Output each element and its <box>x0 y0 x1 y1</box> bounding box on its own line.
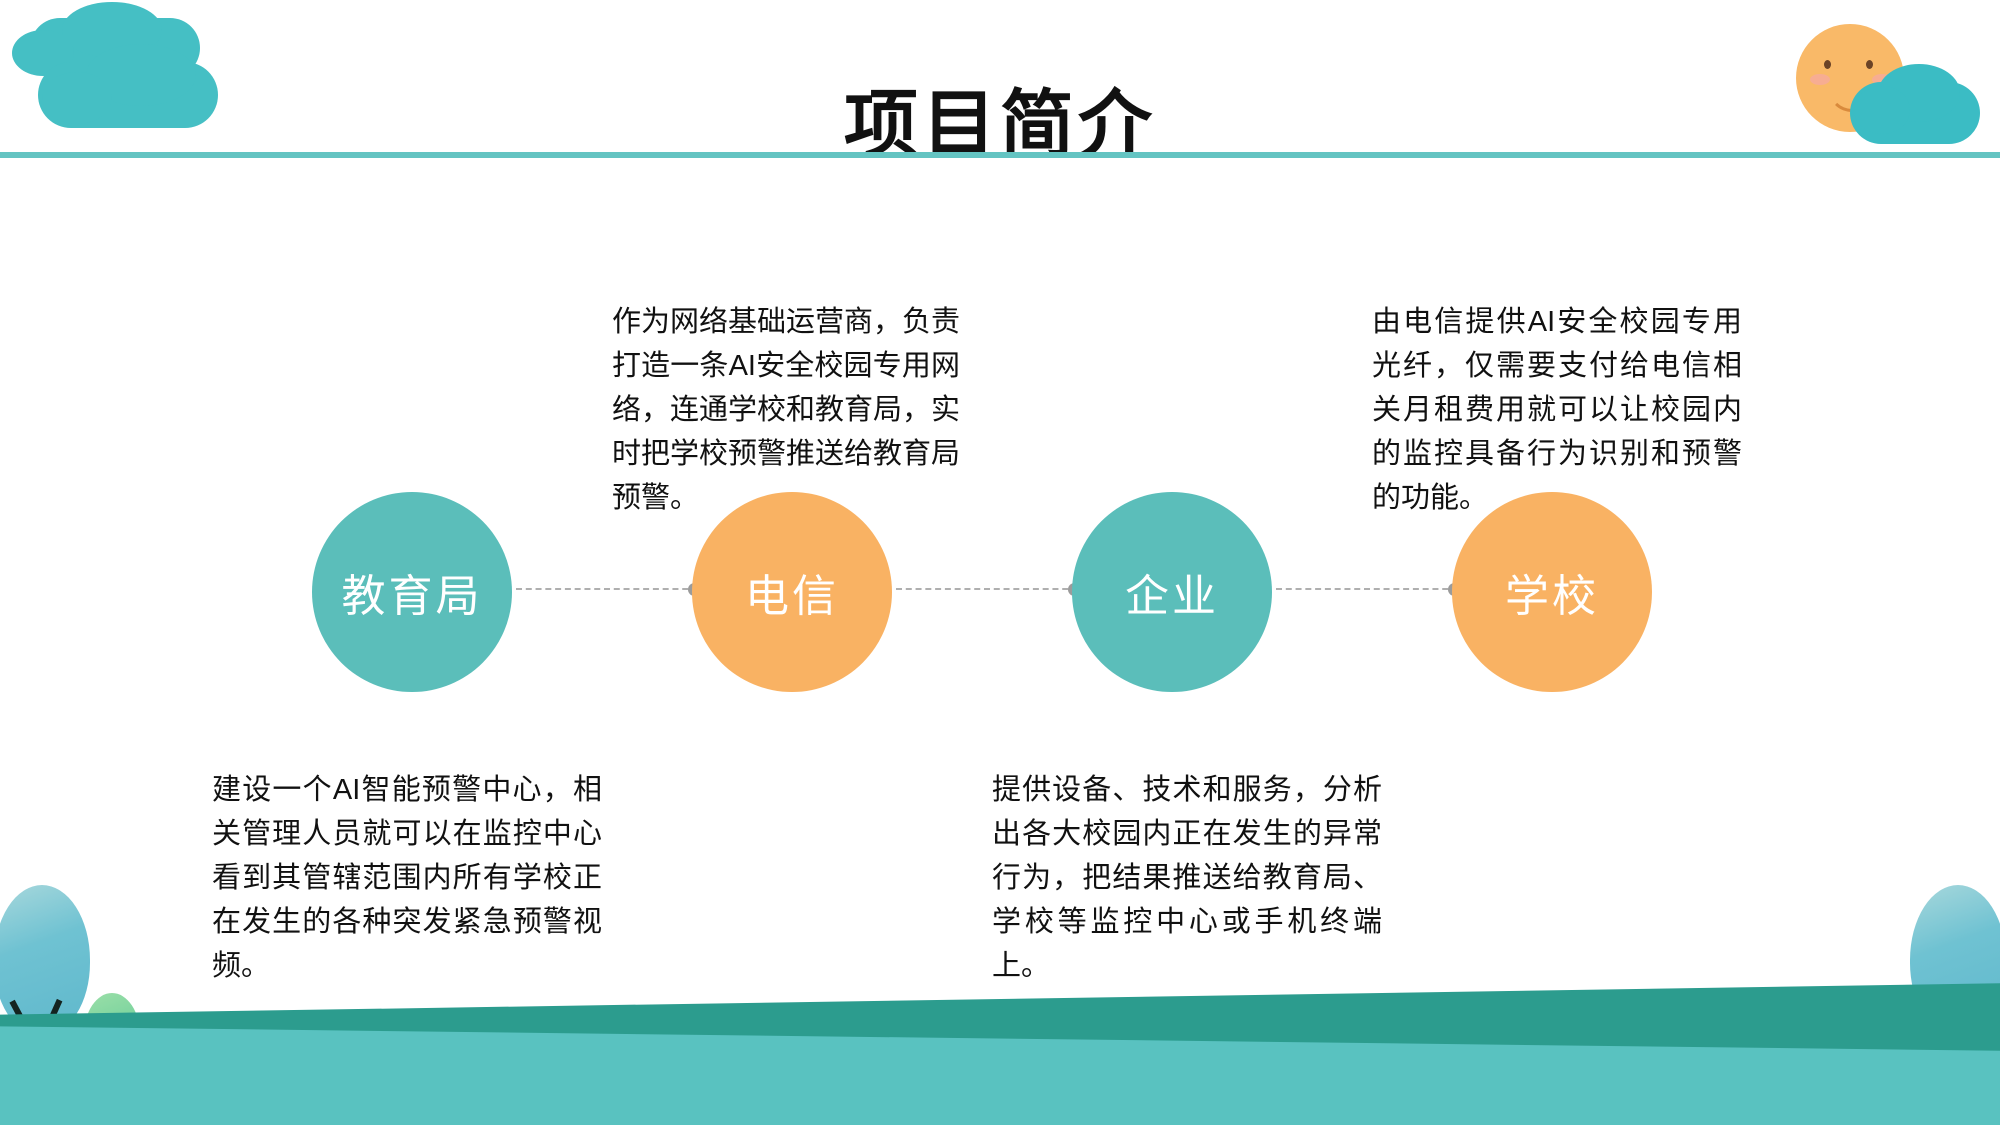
description-education-bureau: 建设一个AI智能预警中心，相关管理人员就可以在监控中心看到其管辖范围内所有学校正… <box>212 768 602 988</box>
description-telecom: 作为网络基础运营商，负责打造一条AI安全校园专用网络，连通学校和教育局，实时把学… <box>612 300 960 520</box>
node-school[interactable]: 学校 <box>1452 492 1652 692</box>
node-label: 电信 <box>745 560 839 624</box>
node-label: 学校 <box>1505 560 1599 624</box>
description-enterprise: 提供设备、技术和服务，分析出各大校园内正在发生的异常行为，把结果推送给教育局、学… <box>992 768 1382 988</box>
header-divider <box>0 152 2000 158</box>
connector-line <box>896 588 1078 592</box>
slide-header: 项目简介 <box>0 0 2000 160</box>
sun-eye-icon <box>1824 60 1831 69</box>
description-school: 由电信提供AI安全校园专用光纤，仅需要支付给电信相关月租费用就可以让校园内的监控… <box>1372 300 1742 520</box>
node-label: 教育局 <box>342 560 483 624</box>
connector-line <box>516 588 698 592</box>
ground-band-base <box>0 1085 2000 1125</box>
node-enterprise[interactable]: 企业 <box>1072 492 1272 692</box>
slide-canvas: 项目简介 作为网络基础运营商，负责打造一条AI安全校园专用网络，连通学校和教育局… <box>0 0 2000 1125</box>
node-telecom[interactable]: 电信 <box>692 492 892 692</box>
node-education-bureau[interactable]: 教育局 <box>312 492 512 692</box>
sun-eye-icon <box>1866 60 1873 69</box>
connector-line <box>1276 588 1458 592</box>
node-label: 企业 <box>1125 560 1219 624</box>
